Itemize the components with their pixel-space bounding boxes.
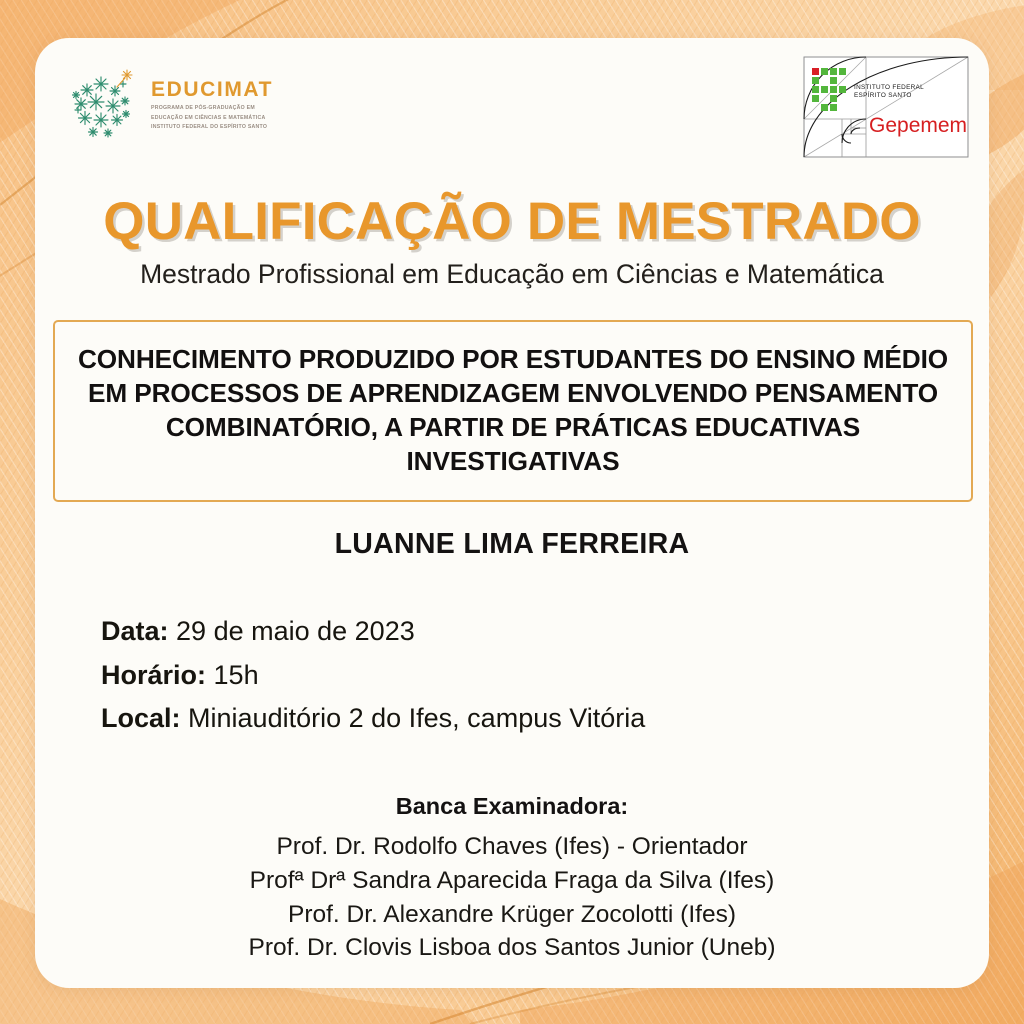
detail-value-data: 29 de maio de 2023 (176, 616, 415, 646)
detail-label-local: Local: (101, 703, 181, 733)
banca-heading: Banca Examinadora: (35, 793, 989, 820)
dandelion-seed-cluster-icon (65, 60, 145, 146)
educimat-subtitle: PROGRAMA DE PÓS-GRADUAÇÃO EM EDUCAÇÃO EM… (151, 104, 273, 133)
educimat-subtitle-line-2: EDUCAÇÃO EM CIÊNCIAS E MATEMÁTICA (151, 114, 273, 124)
detail-row-data: Data: 29 de maio de 2023 (101, 610, 949, 654)
gepemem-institute-line-2: ESPÍRITO SANTO (854, 90, 912, 99)
page-title: QUALIFICAÇÃO DE MESTRADO (35, 193, 989, 250)
logo-row: EDUCIMAT PROGRAMA DE PÓS-GRADUAÇÃO EM ED… (35, 38, 989, 168)
poster-card: EDUCIMAT PROGRAMA DE PÓS-GRADUAÇÃO EM ED… (35, 38, 989, 988)
banca-member: Profª Drª Sandra Aparecida Fraga da Silv… (35, 864, 989, 898)
golden-ratio-spiral-icon: INSTITUTO FEDERAL ESPÍRITO SANTO Gepemem (803, 56, 969, 158)
gepemem-wordmark-text: Gepemem (869, 114, 967, 137)
banca-examinadora-section: Banca Examinadora: Prof. Dr. Rodolfo Cha… (35, 793, 989, 965)
research-title: CONHECIMENTO PRODUZIDO POR ESTUDANTES DO… (71, 342, 955, 478)
detail-value-horario: 15h (214, 660, 259, 690)
banca-member: Prof. Dr. Clovis Lisboa dos Santos Junio… (35, 931, 989, 965)
educimat-name: EDUCIMAT (151, 79, 273, 100)
detail-label-horario: Horário: (101, 660, 206, 690)
banca-member: Prof. Dr. Rodolfo Chaves (Ifes) - Orient… (35, 830, 989, 864)
detail-value-local: Miniauditório 2 do Ifes, campus Vitória (188, 703, 645, 733)
educimat-subtitle-line-3: INSTITUTO FEDERAL DO ESPÍRITO SANTO (151, 123, 273, 133)
detail-row-local: Local: Miniauditório 2 do Ifes, campus V… (101, 697, 949, 741)
educimat-subtitle-line-1: PROGRAMA DE PÓS-GRADUAÇÃO EM (151, 104, 273, 114)
page-subtitle: Mestrado Profissional em Educação em Ciê… (35, 259, 989, 289)
gepemem-logo: INSTITUTO FEDERAL ESPÍRITO SANTO Gepemem (803, 56, 969, 158)
banca-member: Prof. Dr. Alexandre Krüger Zocolotti (If… (35, 898, 989, 932)
headline-block: QUALIFICAÇÃO DE MESTRADO Mestrado Profis… (35, 193, 989, 290)
research-title-box: CONHECIMENTO PRODUZIDO POR ESTUDANTES DO… (53, 320, 973, 502)
educimat-wordmark: EDUCIMAT PROGRAMA DE PÓS-GRADUAÇÃO EM ED… (151, 73, 273, 133)
detail-row-horario: Horário: 15h (101, 654, 949, 698)
event-details: Data: 29 de maio de 2023 Horário: 15h Lo… (101, 610, 949, 741)
gepemem-institute-line-1: INSTITUTO FEDERAL (854, 84, 924, 91)
poster-canvas: EDUCIMAT PROGRAMA DE PÓS-GRADUAÇÃO EM ED… (0, 0, 1024, 1024)
detail-label-data: Data: (101, 616, 169, 646)
author-name: LUANNE LIMA FERREIRA (35, 528, 989, 561)
educimat-logo: EDUCIMAT PROGRAMA DE PÓS-GRADUAÇÃO EM ED… (65, 60, 273, 146)
